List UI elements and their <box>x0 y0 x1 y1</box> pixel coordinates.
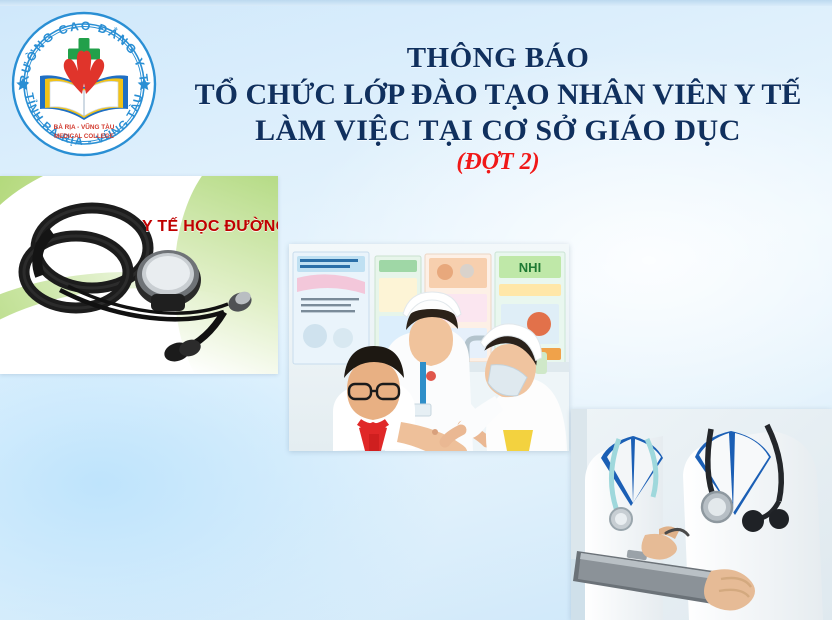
college-logo: TRƯỜNG CAO ĐẲNG Y TẾ TỈNH BÀ RỊA - VŨNG … <box>8 8 160 160</box>
slide-canvas: TRƯỜNG CAO ĐẲNG Y TẾ TỈNH BÀ RỊA - VŨNG … <box>0 0 832 620</box>
photo-doctors <box>571 409 832 620</box>
photo-stethoscope: Y TẾ HỌC ĐƯỜNG <box>0 176 278 374</box>
vaccination-scene-illustration: NHI <box>289 244 569 451</box>
title-block: THÔNG BÁO TỔ CHỨC LỚP ĐÀO TẠO NHÂN VIÊN … <box>168 44 828 174</box>
stethoscope-caption: Y TẾ HỌC ĐƯỜNG <box>142 218 278 236</box>
svg-text:NHI: NHI <box>519 260 541 275</box>
title-line-4-batch: (ĐỢT 2) <box>168 150 828 174</box>
photo-vaccination: NHI <box>289 244 569 451</box>
logo-inner-line-1: BÀ RỊA - VŨNG TÀU <box>54 122 115 131</box>
title-line-2: TỔ CHỨC LỚP ĐÀO TẠO NHÂN VIÊN Y TẾ <box>168 80 828 110</box>
doctors-illustration <box>571 409 832 620</box>
title-line-3: LÀM VIỆC TẠI CƠ SỞ GIÁO DỤC <box>168 116 828 146</box>
stethoscope-illustration <box>0 176 278 374</box>
logo-inner-line-2: MEDICAL COLLEGE <box>54 133 114 140</box>
title-line-1: THÔNG BÁO <box>168 44 828 73</box>
